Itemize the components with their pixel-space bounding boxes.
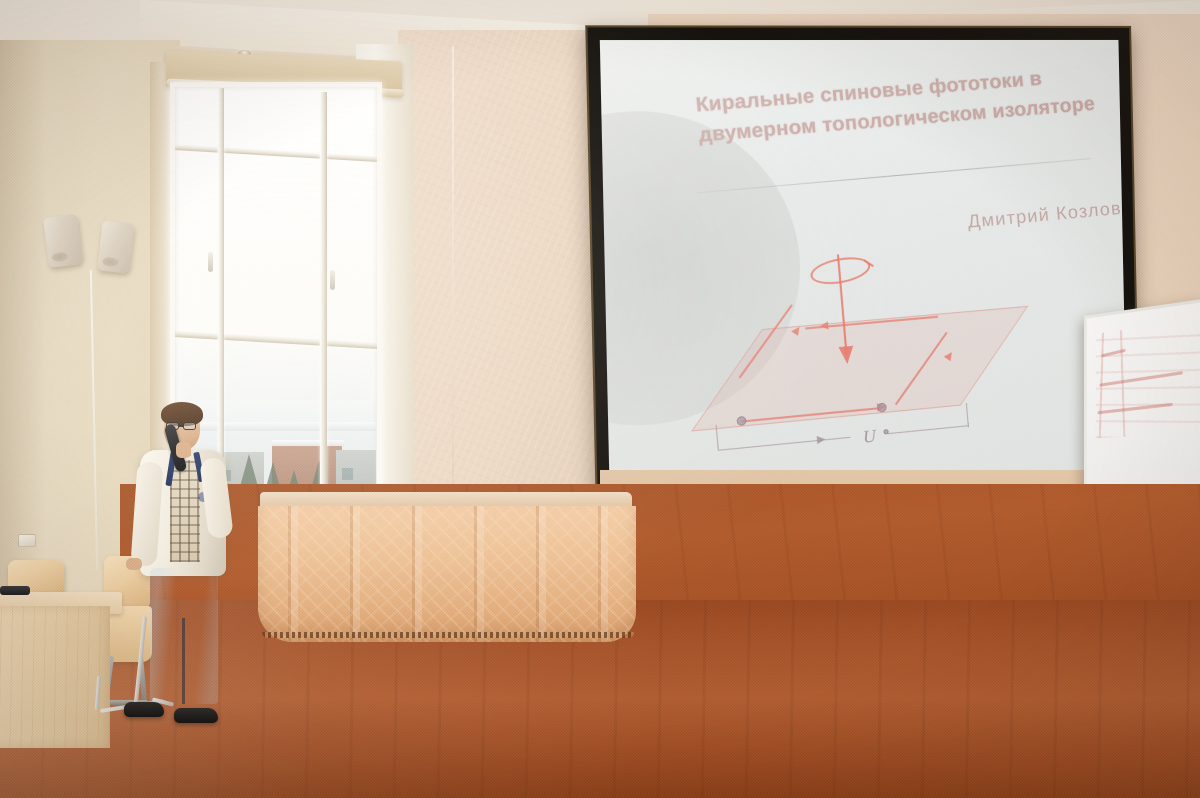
wall-outlet[interactable] [18, 534, 36, 547]
window-handle[interactable] [208, 252, 213, 272]
figure-spin-icon [808, 253, 872, 288]
slide-figure: U [675, 225, 1088, 495]
presenter-shoe-left [124, 702, 164, 717]
figure-circuit-lead [888, 425, 968, 434]
glasses-icon [183, 422, 196, 430]
presenter-shoe-right [174, 708, 218, 723]
presenter-jeans-seam [182, 618, 185, 704]
figure-circuit-lead [966, 403, 969, 427]
figure-arrowhead-icon [820, 321, 829, 330]
wall-corner-seam [452, 46, 454, 516]
presenter [120, 406, 240, 732]
figure-voltage-label: U [862, 426, 876, 448]
presenter-shirt [170, 460, 200, 562]
desk-object[interactable] [0, 586, 30, 595]
figure-circuit-lead [718, 437, 851, 451]
figure-arrowhead-icon [839, 346, 855, 365]
presentation-slide: Киральные спиновые фототоки в двумерном … [600, 40, 1128, 510]
presenter-hand-on-chair [126, 558, 142, 570]
window-handle[interactable] [330, 270, 335, 290]
slide-title: Киральные спиновые фототоки в двумерном … [694, 59, 1111, 151]
wall-speaker-left [43, 214, 83, 268]
table-skirt-hem [262, 632, 634, 638]
lecture-hall-photo: Киральные спиновые фототоки в двумерном … [0, 0, 1200, 798]
figure-arrowhead-icon [817, 435, 826, 444]
wall-speaker-right [97, 220, 134, 273]
presenter-hand-holding-mic [176, 442, 191, 458]
projection-screen: Киральные спиновые фототоки в двумерном … [585, 25, 1141, 525]
speaker-grille-icon [102, 257, 119, 268]
glasses-bridge-icon [179, 425, 184, 427]
table-skirt-pattern [258, 506, 636, 642]
desk-wood-grain [0, 606, 110, 748]
speaker-grille-icon [51, 252, 68, 263]
